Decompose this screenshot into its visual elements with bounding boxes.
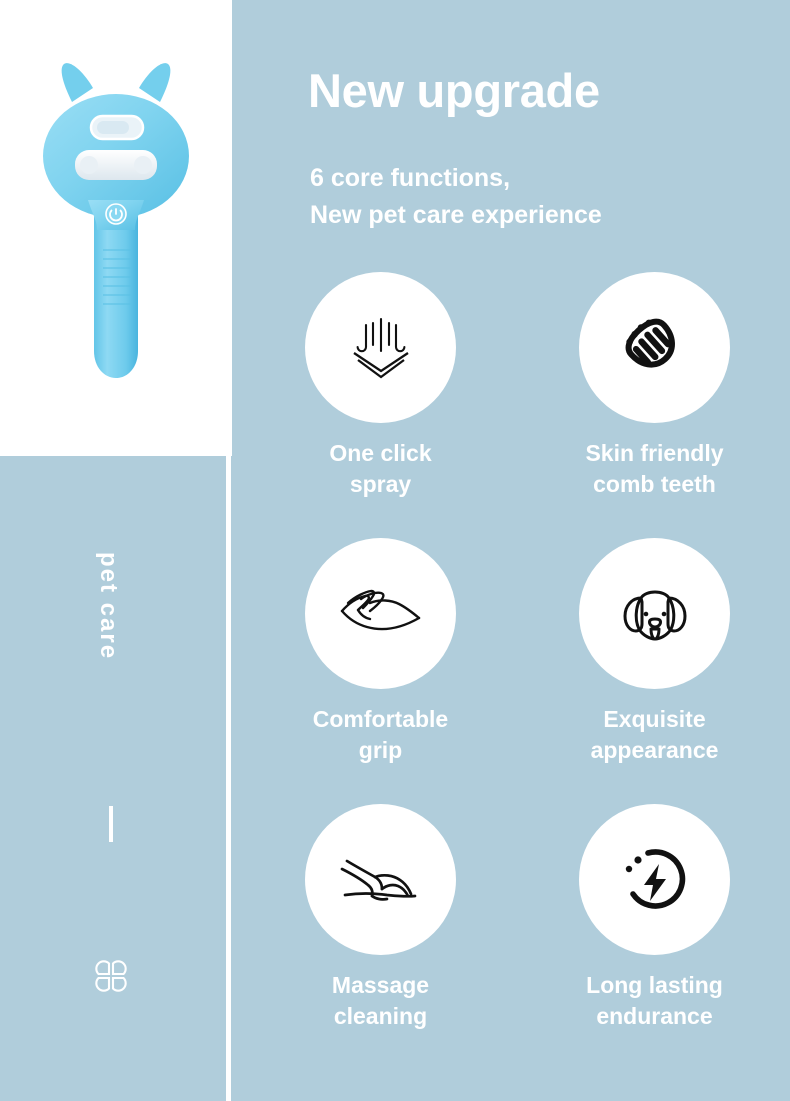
page-title: New upgrade — [308, 66, 758, 116]
feature-item-comfortable-grip[interactable]: Comfortable grip — [263, 538, 499, 804]
cat-ear-right — [139, 63, 170, 102]
feature-label-line-1: One click — [329, 438, 431, 469]
feature-label-line-2: grip — [313, 735, 448, 766]
feature-icon-badge — [305, 804, 456, 955]
comb-teeth-icon — [618, 311, 692, 385]
feature-icon-badge — [579, 272, 730, 423]
four-petal-clover-icon — [90, 955, 132, 997]
feature-label: Skin friendly comb teeth — [585, 438, 723, 499]
feature-label-line-2: spray — [329, 469, 431, 500]
feature-item-exquisite-appearance[interactable]: Exquisite appearance — [537, 538, 773, 804]
open-palm-hand-icon — [335, 577, 427, 651]
water-tank-window — [91, 116, 143, 139]
product-feature-poster: pet care New upgrade 6 core functions, N… — [0, 0, 790, 1101]
product-image-panel — [0, 0, 232, 456]
feature-item-skin-friendly-comb-teeth[interactable]: Skin friendly comb teeth — [537, 272, 773, 538]
spray-down-arrow-icon — [344, 311, 418, 385]
feature-label: Long lasting endurance — [586, 970, 723, 1031]
feature-label: Massage cleaning — [332, 970, 429, 1031]
feature-label-line-1: Massage — [332, 970, 429, 1001]
feature-label-line-2: endurance — [586, 1001, 723, 1032]
cat-ear-left — [62, 63, 93, 102]
comb-head-plate — [75, 150, 157, 180]
feature-label-line-1: Exquisite — [591, 704, 719, 735]
dog-face-icon — [615, 577, 695, 651]
lightning-bolt-in-circle-icon — [618, 843, 692, 917]
feature-label-line-1: Skin friendly — [585, 438, 723, 469]
content-column: New upgrade 6 core functions, New pet ca… — [232, 0, 790, 1101]
feature-item-one-click-spray[interactable]: One click spray — [263, 272, 499, 538]
subtitle-line-2: New pet care experience — [310, 197, 770, 234]
feature-label-line-1: Long lasting — [586, 970, 723, 1001]
feature-label: Exquisite appearance — [591, 704, 719, 765]
feature-label: Comfortable grip — [313, 704, 448, 765]
feature-icon-badge — [579, 538, 730, 689]
feature-icon-badge — [579, 804, 730, 955]
feature-item-massage-cleaning[interactable]: Massage cleaning — [263, 804, 499, 1070]
subtitle-line-1: 6 core functions, — [310, 160, 770, 197]
feature-icon-badge — [305, 538, 456, 689]
feature-label-line-2: cleaning — [332, 1001, 429, 1032]
page-subtitle: 6 core functions, New pet care experienc… — [310, 160, 770, 234]
feature-label-line-2: appearance — [591, 735, 719, 766]
sidebar-brand-label: pet care — [96, 552, 120, 660]
feature-grid: One click spray — [232, 272, 790, 1070]
feature-label: One click spray — [329, 438, 431, 499]
feature-icon-badge — [305, 272, 456, 423]
feature-item-long-lasting-endurance[interactable]: Long lasting endurance — [537, 804, 773, 1070]
ribbed-handle — [94, 206, 138, 378]
power-button[interactable] — [106, 204, 126, 224]
product-illustration — [31, 38, 201, 418]
feature-label-line-2: comb teeth — [585, 469, 723, 500]
massaging-hand-icon — [335, 843, 427, 917]
sidebar-vertical-rule — [109, 806, 113, 842]
feature-label-line-1: Comfortable — [313, 704, 448, 735]
